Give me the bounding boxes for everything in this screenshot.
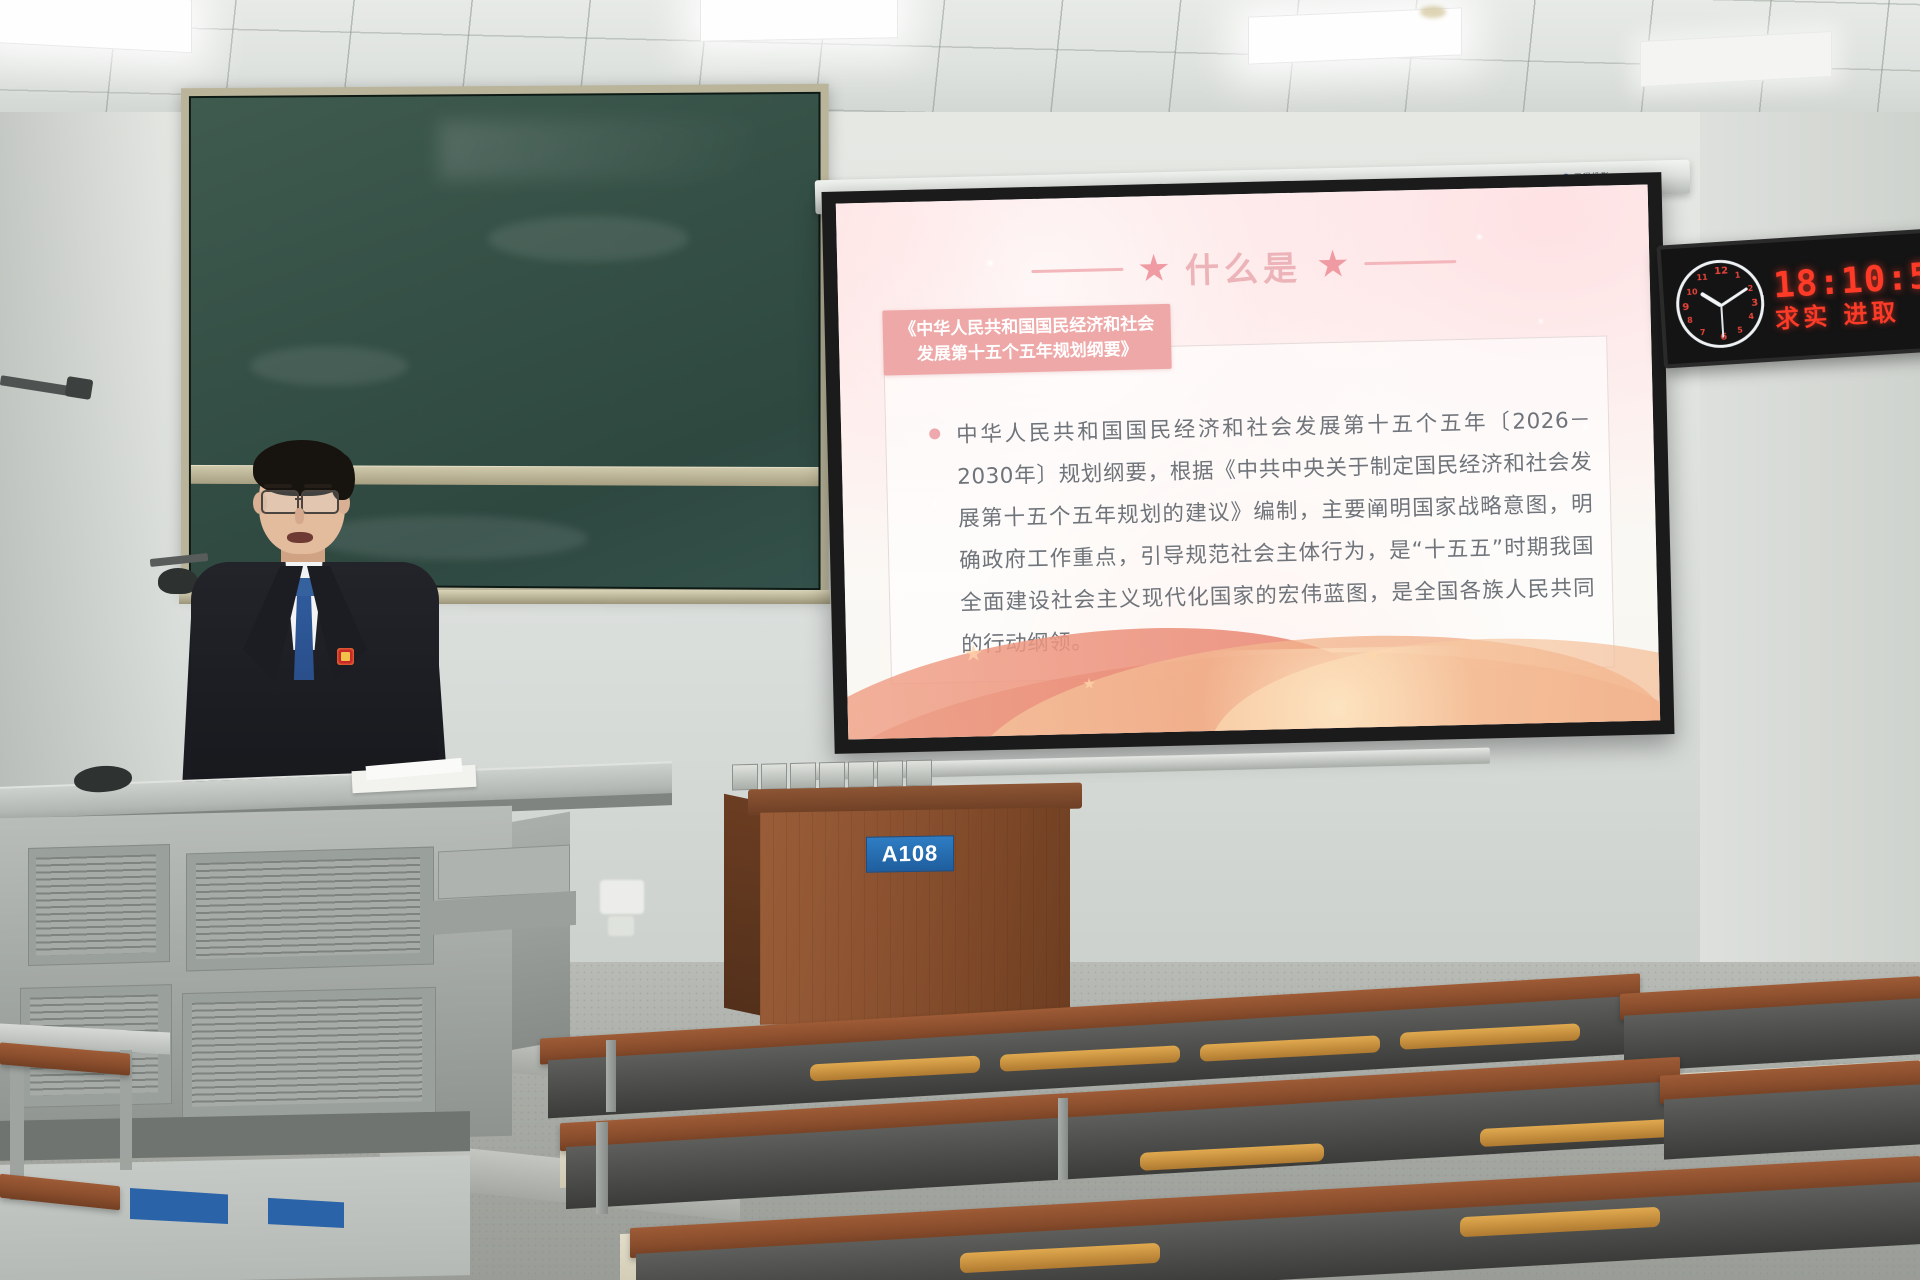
projection-screen: 什么是 《中华人民共和国国民经济和社会发展第十五个五年规划纲要》 中华人民共和国… <box>821 172 1674 754</box>
presenter <box>185 440 445 800</box>
presenter-eyebrow <box>264 484 292 488</box>
clock-numeral: 4 <box>1748 311 1754 320</box>
console-vent <box>192 997 422 1107</box>
clock-numeral: 11 <box>1696 272 1708 282</box>
header-rule-left <box>1031 268 1123 273</box>
clock-numeral: 5 <box>1737 325 1743 334</box>
projected-slide-area: 什么是 《中华人民共和国国民经济和社会发展第十五个五年规划纲要》 中华人民共和国… <box>836 185 1660 740</box>
lectern: A108 <box>760 786 1070 1022</box>
presenter-nose <box>295 508 304 524</box>
equipment-box <box>819 762 845 789</box>
clock-numeral: 8 <box>1687 315 1693 324</box>
slide-banner-title: 《中华人民共和国国民经济和社会发展第十五个五年规划纲要》 <box>882 304 1171 376</box>
clock-numeral: 10 <box>1686 287 1698 297</box>
sparkle-icon <box>1539 319 1543 323</box>
led-wall-clock: 12 1 2 3 4 5 6 7 8 9 10 11 18:10:52 求实 进… <box>1656 226 1920 368</box>
star-icon <box>1139 253 1170 284</box>
room-number-plate: A108 <box>866 835 954 873</box>
star-icon <box>1317 249 1348 280</box>
ceiling-light <box>700 0 898 42</box>
eyeglasses-icon <box>301 490 339 514</box>
console-footer-panel <box>0 1155 470 1280</box>
lectern-side <box>724 794 764 1017</box>
console-vent <box>196 857 420 959</box>
equipment-box <box>906 760 932 787</box>
desk-leg <box>1058 1098 1068 1180</box>
clock-numeral: 7 <box>1700 327 1706 336</box>
chalk-smudge <box>488 215 689 262</box>
room-number-label: A108 <box>882 841 939 868</box>
led-readout: 18:10:52 求实 进取 <box>1766 257 1920 332</box>
wall-patch <box>600 880 644 914</box>
wall-patch <box>608 916 634 936</box>
classroom-photo: 工程投影 什么是 《中华人民共和国国 <box>0 0 1920 1280</box>
presenter-mouth <box>287 532 313 543</box>
equipment-box <box>877 760 903 787</box>
ribbon-glow <box>1146 643 1529 739</box>
eyeglasses-icon <box>261 490 299 514</box>
analog-clock-face: 12 1 2 3 4 5 6 7 8 9 10 11 <box>1669 252 1771 354</box>
eyeglasses-bridge <box>295 498 303 500</box>
equipment-box <box>732 764 758 791</box>
ceiling-stain <box>1420 6 1446 18</box>
header-rule-right <box>1364 260 1456 265</box>
clock-numeral: 1 <box>1735 270 1741 279</box>
chalkboard-glare <box>438 118 759 180</box>
clock-numeral: 9 <box>1682 301 1690 312</box>
console-drawer[interactable] <box>438 845 570 900</box>
desk-leg <box>596 1122 608 1214</box>
chalk-smudge <box>250 346 408 386</box>
slide-header-title: 什么是 <box>1184 241 1302 293</box>
projector-head <box>65 376 94 400</box>
clock-numeral: 12 <box>1714 265 1729 277</box>
slide-ribbon-decoration <box>845 580 1660 739</box>
equipment-box <box>790 762 816 789</box>
clock-numeral: 3 <box>1751 297 1759 308</box>
equipment-box <box>761 763 787 790</box>
bullet-icon <box>929 428 940 439</box>
clock-numeral: 2 <box>1747 283 1753 292</box>
equipment-box <box>848 761 874 788</box>
console-vent <box>36 854 156 955</box>
presenter-eyebrow <box>304 484 332 488</box>
presentation-slide: 什么是 《中华人民共和国国民经济和社会发展第十五个五年规划纲要》 中华人民共和国… <box>836 185 1660 740</box>
desk-leg <box>606 1040 616 1112</box>
party-emblem-detail <box>341 652 350 661</box>
